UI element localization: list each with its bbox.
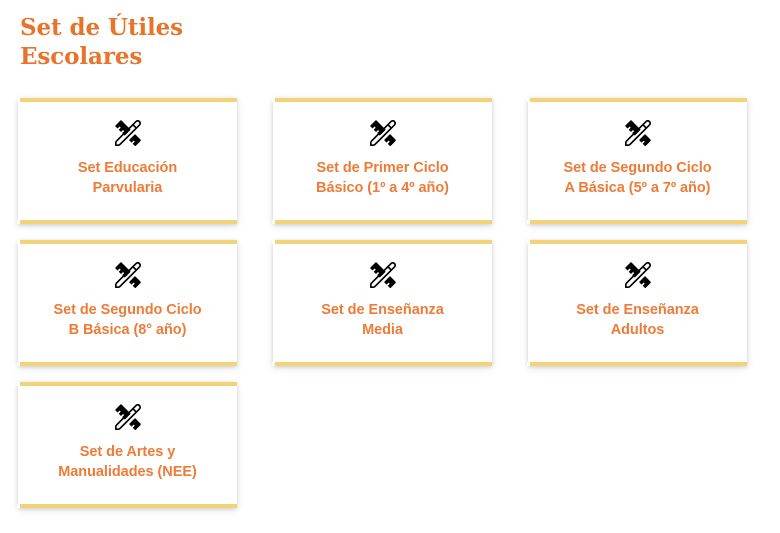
set-card-set-segundo-ciclo-a-basica[interactable]: Set de Segundo Ciclo A Básica (5º a 7º a… (528, 98, 747, 224)
set-card-set-ensenanza-media[interactable]: Set de Enseñanza Media (273, 240, 492, 366)
page-root: Set de Útiles Escolares Set Educación Pa… (0, 0, 780, 533)
pencil-ruler-icon (370, 120, 396, 146)
set-card-label: Set de Artes y Manualidades (NEE) (58, 443, 197, 481)
set-card-set-ensenanza-adultos[interactable]: Set de Enseñanza Adultos (528, 240, 747, 366)
set-card-set-segundo-ciclo-b-basica[interactable]: Set de Segundo Ciclo B Básica (8° año) (18, 240, 237, 366)
set-card-label: Set Educación Parvularia (78, 159, 177, 197)
set-card-label: Set de Segundo Ciclo A Básica (5º a 7º a… (563, 159, 711, 197)
pencil-ruler-icon (370, 262, 396, 288)
set-card-set-primer-ciclo-basico[interactable]: Set de Primer Ciclo Básico (1º a 4º año) (273, 98, 492, 224)
pencil-ruler-icon (115, 262, 141, 288)
pencil-ruler-icon (115, 120, 141, 146)
pencil-ruler-icon (115, 404, 141, 430)
set-card-label: Set de Segundo Ciclo B Básica (8° año) (53, 301, 201, 339)
set-card-grid: Set Educación ParvulariaSet de Primer Ci… (18, 98, 762, 508)
set-card-set-artes-manualidades-nee[interactable]: Set de Artes y Manualidades (NEE) (18, 382, 237, 508)
page-title: Set de Útiles Escolares (20, 13, 440, 72)
pencil-ruler-icon (625, 262, 651, 288)
set-card-label: Set de Primer Ciclo Básico (1º a 4º año) (316, 159, 449, 197)
set-card-label: Set de Enseñanza Adultos (576, 301, 699, 339)
pencil-ruler-icon (625, 120, 651, 146)
set-card-label: Set de Enseñanza Media (321, 301, 444, 339)
set-card-set-educacion-parvularia[interactable]: Set Educación Parvularia (18, 98, 237, 224)
